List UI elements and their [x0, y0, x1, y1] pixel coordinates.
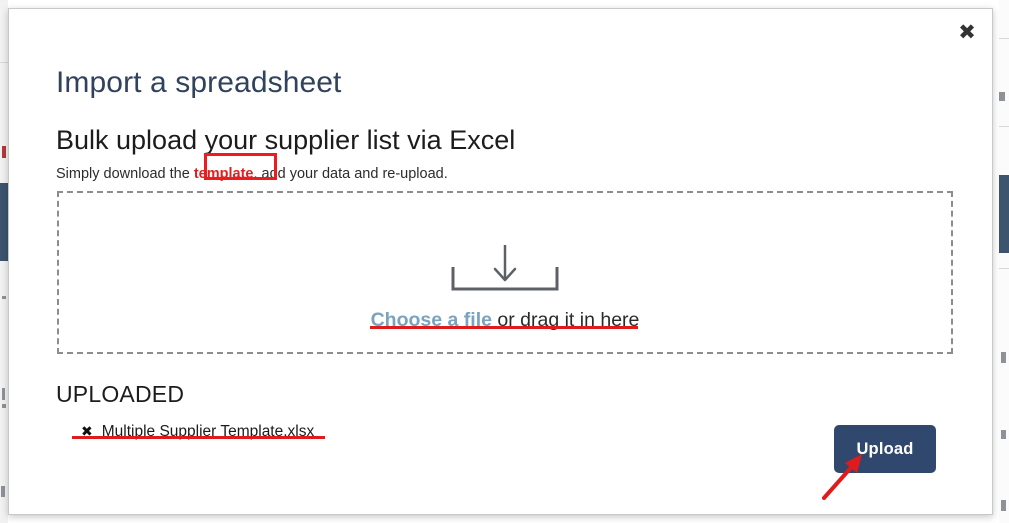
background-tick: [2, 404, 6, 408]
section-heading: Bulk upload your supplier list via Excel: [56, 125, 515, 156]
background-tick: [1, 486, 5, 497]
background-divider: [999, 268, 1009, 269]
subtext-prefix: Simply download the: [56, 166, 194, 182]
background-left-rail: [0, 0, 8, 523]
annotation-underline-uploaded-file: [72, 436, 325, 439]
download-tray-icon: [449, 245, 561, 291]
background-navy-band: [999, 175, 1009, 253]
background-divider: [999, 38, 1009, 39]
background-tick: [2, 388, 5, 400]
background-divider: [0, 62, 8, 63]
section-subtext: Simply download the template, add your d…: [56, 166, 448, 182]
background-tick: [2, 296, 6, 299]
page-title: Import a spreadsheet: [56, 66, 342, 100]
uploaded-section-heading: UPLOADED: [56, 381, 184, 408]
background-right-rail: [999, 0, 1009, 523]
upload-button[interactable]: Upload: [834, 425, 936, 473]
background-tick: [1001, 500, 1006, 511]
background-divider: [999, 126, 1009, 127]
annotation-underline-choose-a-file: [370, 326, 638, 329]
background-navy-band: [0, 183, 8, 261]
background-tick: [999, 92, 1005, 101]
template-download-link[interactable]: template: [194, 166, 254, 182]
background-accent: [2, 146, 6, 158]
background-tick: [1001, 430, 1006, 439]
background-tick: [1001, 352, 1006, 363]
file-dropzone[interactable]: Choose a file or drag it in here: [57, 191, 953, 354]
close-icon[interactable]: ✖: [952, 17, 982, 47]
subtext-suffix: , add your data and re-upload.: [253, 166, 447, 182]
